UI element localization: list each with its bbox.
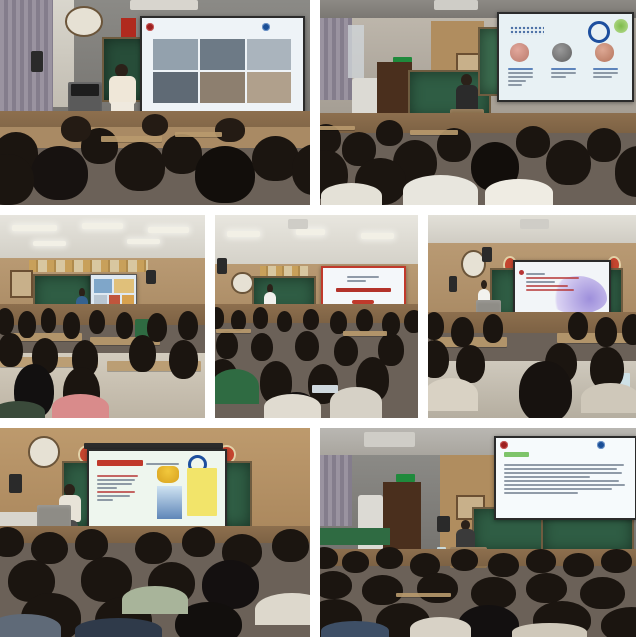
wall-character-frieze bbox=[260, 266, 309, 276]
audience bbox=[215, 300, 418, 418]
collage-row-3 bbox=[0, 428, 636, 637]
collage-photo-2[interactable] bbox=[320, 0, 636, 205]
projection-screen bbox=[497, 12, 634, 102]
exit-sign-icon bbox=[396, 474, 415, 482]
audience bbox=[0, 296, 205, 418]
photo-collage bbox=[0, 0, 636, 637]
wall-speaker-icon bbox=[482, 247, 492, 261]
wall-speaker-icon bbox=[217, 258, 227, 274]
photo-1-scene bbox=[0, 0, 310, 205]
projection-screen bbox=[140, 16, 305, 112]
blue-badge-icon bbox=[588, 21, 610, 43]
photo-5-scene bbox=[428, 215, 636, 418]
institute-seal-icon bbox=[597, 441, 605, 449]
book-cover-thumbnail bbox=[157, 486, 182, 518]
wall-speaker-icon bbox=[146, 270, 156, 284]
photo-6-scene bbox=[0, 428, 310, 637]
projection-screen bbox=[494, 436, 636, 519]
collage-photo-5[interactable] bbox=[428, 215, 636, 418]
wall-speaker-icon bbox=[449, 276, 457, 292]
university-seal-icon bbox=[146, 23, 154, 31]
audience bbox=[320, 107, 636, 205]
collage-row-1 bbox=[0, 0, 636, 205]
collage-photo-4[interactable] bbox=[215, 215, 418, 418]
wall-clock-icon bbox=[231, 272, 253, 294]
wall-clock-icon bbox=[65, 6, 103, 37]
wall-speaker-icon bbox=[31, 51, 43, 72]
wall-character-frieze bbox=[29, 260, 148, 272]
ceiling-projector-icon bbox=[364, 432, 415, 447]
collage-photo-7[interactable] bbox=[320, 428, 636, 637]
wall-speaker-icon bbox=[9, 474, 21, 493]
collage-photo-3[interactable] bbox=[0, 215, 205, 418]
ceiling-projector-icon bbox=[520, 219, 549, 229]
slide-photo-grid bbox=[153, 39, 292, 104]
photo-2-scene bbox=[320, 0, 636, 205]
bucket-illustration bbox=[157, 466, 179, 483]
photo-3-scene bbox=[0, 215, 205, 418]
photo-4-scene bbox=[215, 215, 418, 418]
audience bbox=[320, 537, 636, 637]
audience bbox=[0, 107, 310, 205]
ceiling-projector-icon bbox=[434, 0, 478, 10]
collage-photo-1[interactable] bbox=[0, 0, 310, 205]
framed-picture bbox=[10, 270, 32, 298]
institute-seal-icon bbox=[262, 23, 270, 31]
molecule-graphic-icon bbox=[614, 19, 628, 33]
collage-row-2 bbox=[0, 215, 636, 418]
wall-clock-icon bbox=[28, 436, 60, 467]
university-seal-icon bbox=[500, 441, 508, 449]
photo-7-scene bbox=[320, 428, 636, 637]
checklist-panel bbox=[187, 468, 217, 516]
wall-speaker-icon bbox=[437, 516, 450, 533]
audience bbox=[0, 520, 310, 637]
collage-photo-6[interactable] bbox=[0, 428, 310, 637]
projection-screen bbox=[87, 449, 227, 530]
ceiling-projector-icon bbox=[288, 219, 308, 229]
audience bbox=[428, 300, 636, 418]
